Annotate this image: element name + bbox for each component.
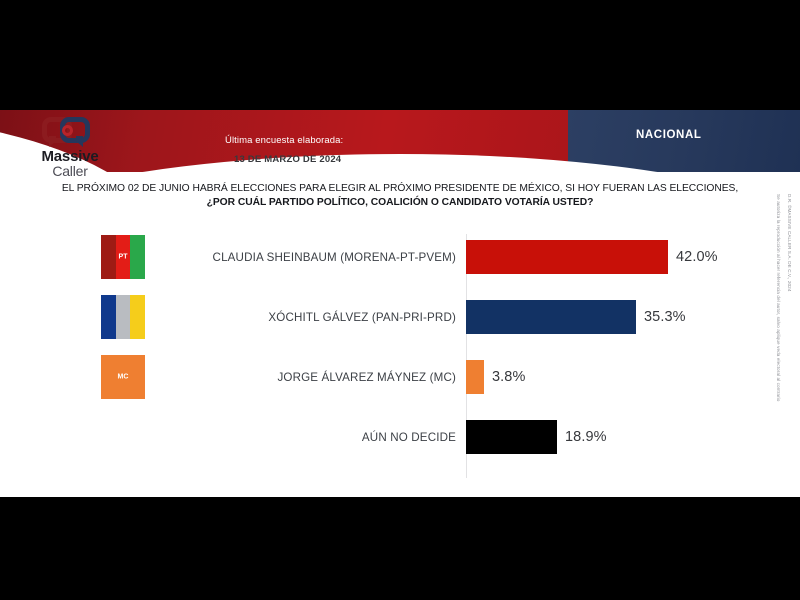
massive-caller-logo: Massive Caller	[22, 114, 118, 178]
pan-pri-prd-coalition-logo	[101, 295, 145, 339]
poll-question-line-1: EL PRÓXIMO 02 DE JUNIO HABRÁ ELECCIONES …	[0, 182, 800, 196]
party-logo-mark: MC	[118, 374, 129, 381]
chart-row-label: AÚN NO DECIDE	[362, 408, 456, 466]
party-logo-segment: PT	[116, 235, 131, 279]
party-logo-segment: MC	[101, 355, 145, 399]
chart-row: AÚN NO DECIDE18.9%	[0, 408, 800, 468]
poll-question-line-2: ¿POR CUÁL PARTIDO POLÍTICO, COALICIÓN O …	[0, 196, 800, 210]
chart-bar-value: 18.9%	[565, 408, 607, 466]
header-navy-band	[568, 110, 800, 172]
scope-badge: NACIONAL	[636, 129, 702, 141]
poll-result-card: Massive Caller Última encuesta elaborada…	[0, 110, 800, 497]
party-logo-segment	[130, 295, 145, 339]
speech-bubbles-icon	[40, 114, 100, 148]
logo-word-caller: Caller	[22, 164, 118, 178]
header-band	[0, 110, 800, 172]
chart-bar	[466, 420, 557, 454]
poll-question: EL PRÓXIMO 02 DE JUNIO HABRÁ ELECCIONES …	[0, 182, 800, 210]
morena-pt-pvem-coalition-logo: PT	[101, 235, 145, 279]
chart-row-label: XÓCHITL GÁLVEZ (PAN-PRI-PRD)	[268, 288, 456, 346]
survey-date-value: 13 DE MARZO DE 2024	[234, 130, 341, 188]
party-logo-segment	[116, 295, 131, 339]
party-logo-segment	[130, 235, 145, 279]
movimiento-ciudadano-logo: MC	[101, 355, 145, 399]
logo-center-dot-icon	[62, 125, 73, 136]
party-logo-segment	[101, 295, 116, 339]
copyright-line-2: Se autoriza la reproducción al hacer ref…	[776, 194, 781, 401]
chart-bar	[466, 300, 636, 334]
chart-row: MCJORGE ÁLVAREZ MÁYNEZ (MC)3.8%	[0, 348, 800, 408]
screenshot-frame: Massive Caller Última encuesta elaborada…	[0, 0, 800, 600]
chart-row: XÓCHITL GÁLVEZ (PAN-PRI-PRD)35.3%	[0, 288, 800, 348]
horizontal-bar-chart: PTCLAUDIA SHEINBAUM (MORENA-PT-PVEM)42.0…	[0, 228, 800, 478]
party-logo-mark: PT	[119, 254, 128, 261]
chart-row-label: CLAUDIA SHEINBAUM (MORENA-PT-PVEM)	[213, 228, 456, 286]
survey-date: Última encuesta elaborada: 13 DE MARZO D…	[225, 130, 343, 148]
chart-bar-value: 3.8%	[492, 348, 525, 406]
chart-bar-value: 42.0%	[676, 228, 718, 286]
copyright-notice: D.R. ©MASSIVE CALLER S.A. DE C.V., 2024 …	[772, 190, 798, 490]
chart-row-label: JORGE ÁLVAREZ MÁYNEZ (MC)	[277, 348, 456, 406]
party-logo-segment	[101, 235, 116, 279]
chart-bar	[466, 240, 668, 274]
chart-row: PTCLAUDIA SHEINBAUM (MORENA-PT-PVEM)42.0…	[0, 228, 800, 288]
chart-bar-value: 35.3%	[644, 288, 686, 346]
chart-bar	[466, 360, 484, 394]
logo-word-massive: Massive	[22, 150, 118, 164]
copyright-line-1: D.R. ©MASSIVE CALLER S.A. DE C.V., 2024	[787, 194, 792, 292]
